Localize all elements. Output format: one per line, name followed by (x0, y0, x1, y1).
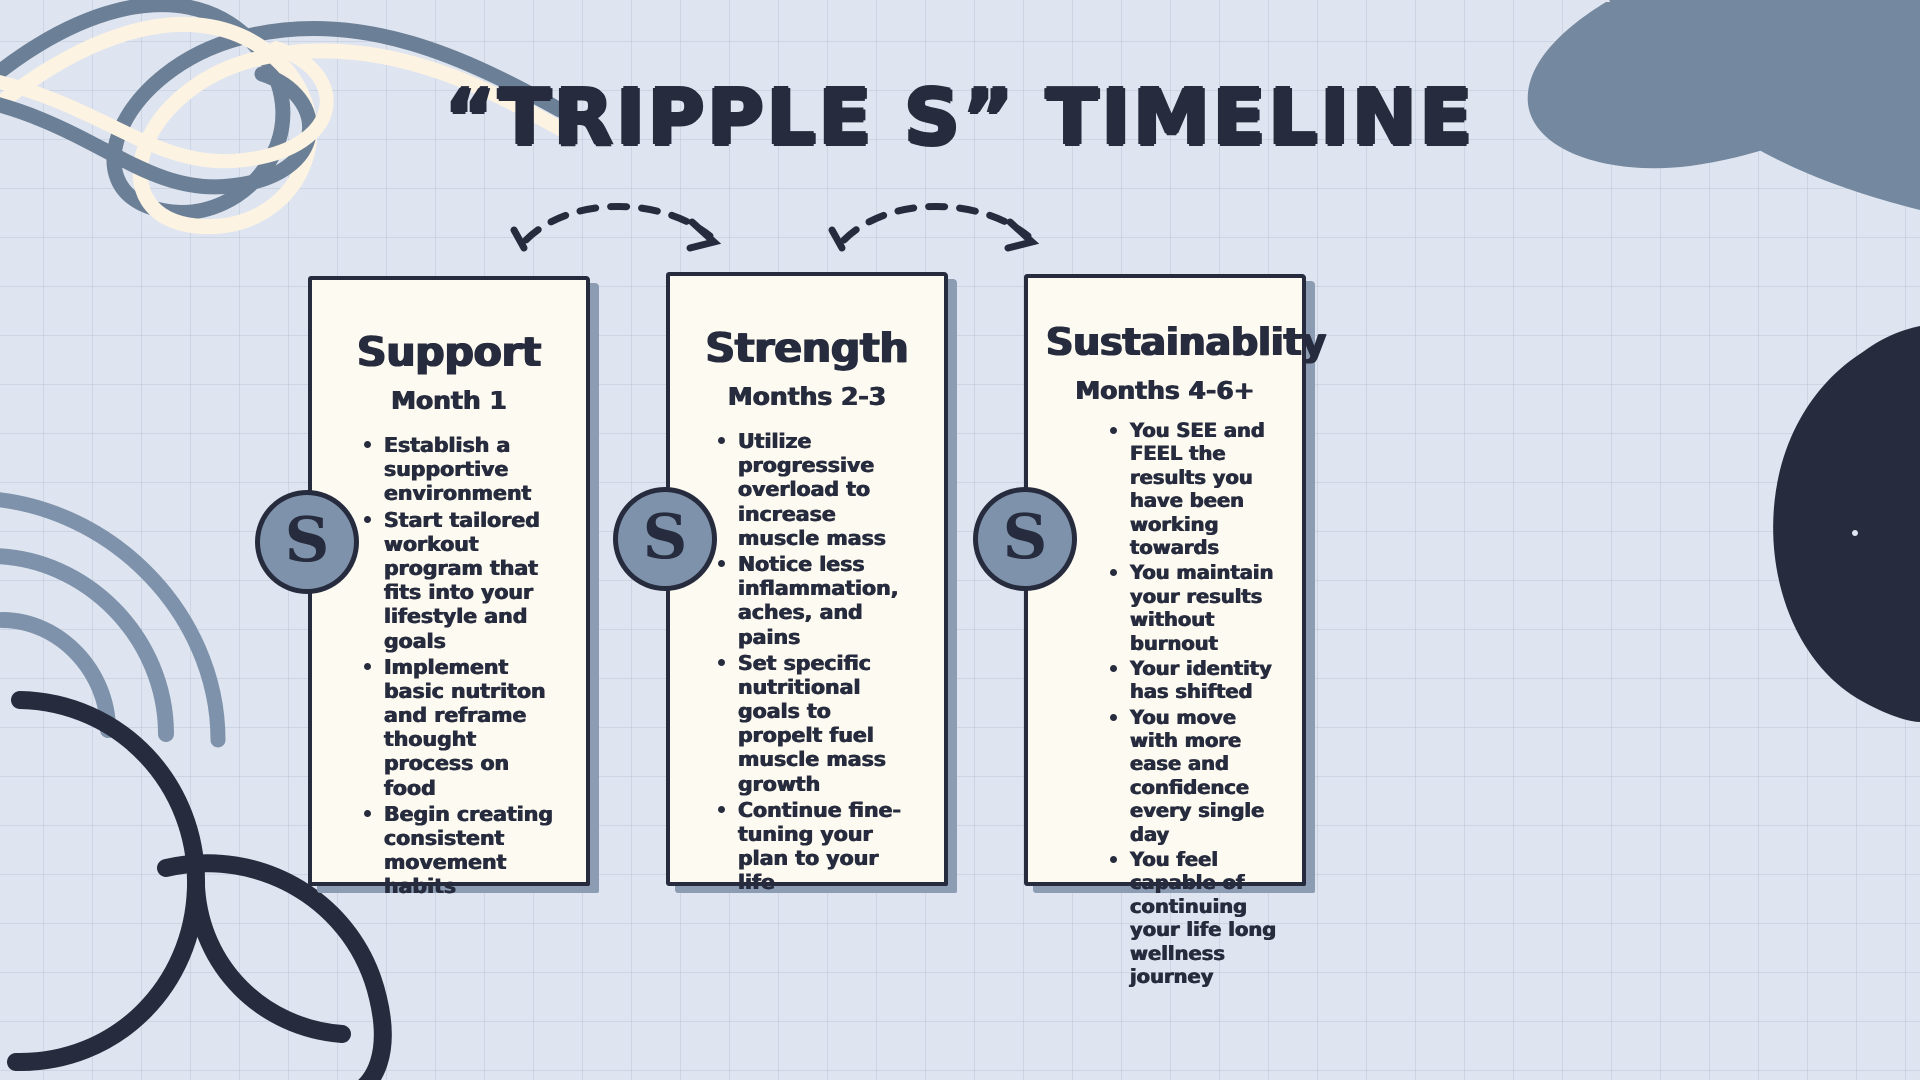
card-title: Strength (688, 324, 926, 372)
arrow-tail-2 (832, 230, 842, 248)
badge-s-support: S (255, 490, 359, 594)
card-subtitle: Month 1 (330, 386, 568, 415)
bullet-item: You SEE and FEEL the results you have be… (1104, 419, 1284, 559)
card-subtitle: Months 2-3 (688, 382, 926, 411)
card-bullet-list: Establish a supportive environment Start… (358, 433, 562, 899)
card-bullet-list: Utilize progressive overload to increase… (712, 429, 922, 895)
slide-canvas: “TRIPPLE S” TIMELINE Support Month 1 Est… (0, 0, 1920, 1080)
badge-letter: S (1003, 506, 1048, 568)
card-bullet-list: You SEE and FEEL the results you have be… (1104, 419, 1284, 988)
timeline-card-support[interactable]: Support Month 1 Establish a supportive e… (308, 276, 590, 886)
bullet-item: You move with more ease and confidence e… (1104, 706, 1284, 846)
timeline-card-strength[interactable]: Strength Months 2-3 Utilize progressive … (666, 272, 948, 886)
card-title: Sustainablity (1046, 320, 1284, 364)
badge-s-strength: S (613, 487, 717, 591)
card-content: Strength Months 2-3 Utilize progressive … (670, 276, 944, 897)
bullet-item: You feel capable of continuing your life… (1104, 848, 1284, 988)
arrowhead-1 (690, 222, 714, 248)
bullet-item: Set specific nutritional goals to propel… (712, 651, 922, 796)
bullet-item: Begin creating consistent movement habit… (358, 802, 562, 899)
arrowhead-2 (1008, 222, 1032, 248)
bullet-item: Your identity has shifted (1104, 657, 1284, 704)
bullet-item: Start tailored workout program that fits… (358, 508, 562, 653)
badge-letter: S (643, 506, 688, 568)
bullet-item: Establish a supportive environment (358, 433, 562, 506)
bullet-item: Implement basic nutriton and reframe tho… (358, 655, 562, 800)
bullet-item: Utilize progressive overload to increase… (712, 429, 922, 550)
card-content: Support Month 1 Establish a supportive e… (312, 280, 586, 901)
arrow-card2-to-card3-path (844, 206, 1028, 240)
timeline-card-sustainablity[interactable]: Sustainablity Months 4-6+ You SEE and FE… (1024, 274, 1306, 886)
bullet-item: Notice less inflammation, aches, and pai… (712, 552, 922, 649)
card-content: Sustainablity Months 4-6+ You SEE and FE… (1028, 278, 1302, 990)
card-title: Support (330, 328, 568, 376)
arrow-card1-to-card2-path (526, 206, 710, 240)
bullet-item: Continue fine-tuning your plan to your l… (712, 798, 922, 895)
badge-s-sustainablity: S (973, 487, 1077, 591)
badge-letter: S (285, 509, 330, 571)
card-subtitle: Months 4-6+ (1046, 376, 1284, 405)
bullet-item: You maintain your results without burnou… (1104, 561, 1284, 655)
arrow-tail-1 (514, 230, 524, 248)
